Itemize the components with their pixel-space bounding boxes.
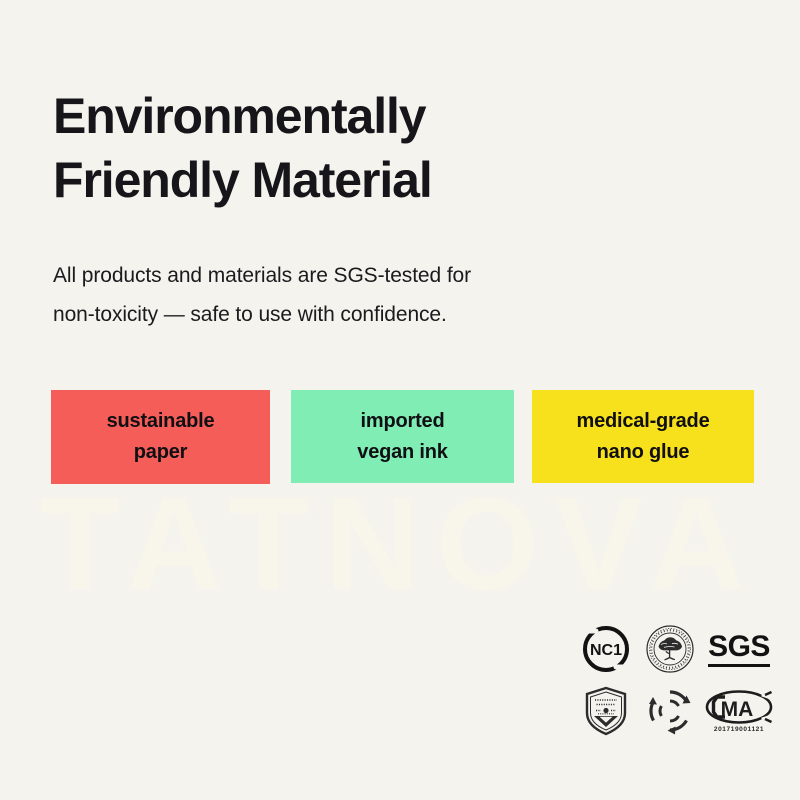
material-badge-line-2: vegan ink [357, 437, 447, 468]
page-subtitle-line-1: All products and materials are SGS-teste… [53, 257, 653, 296]
material-badge-label: imported vegan ink [357, 406, 447, 468]
page-title: Environmentally Friendly Material [53, 84, 673, 212]
page-title-line-2: Friendly Material [53, 148, 673, 212]
svg-text:NC1: NC1 [590, 642, 622, 659]
certification-logos: NC1 [575, 618, 775, 742]
page-subtitle: All products and materials are SGS-teste… [53, 257, 653, 335]
material-badge-sustainable-paper: sustainable paper [51, 390, 270, 484]
sgs-underline [708, 664, 770, 667]
sgs-certification-icon: SGS [703, 632, 775, 667]
material-badge-line-1: imported [357, 406, 447, 437]
certification-logo-row-2: MA 201719001121 [575, 680, 775, 742]
material-badge-line-2: nano glue [576, 437, 709, 468]
material-badge-line-1: sustainable [107, 406, 215, 437]
page-subtitle-line-2: non-toxicity — safe to use with confiden… [53, 296, 653, 335]
material-badge-label: sustainable paper [107, 406, 215, 468]
material-badge-line-2: paper [107, 437, 215, 468]
cma-certification-code: 201719001121 [714, 726, 764, 733]
svg-text:MA: MA [721, 698, 754, 721]
material-badge-medical-grade-nano-glue: medical-grade nano glue [532, 390, 754, 483]
shield-certification-icon [575, 686, 637, 736]
nc1-certification-icon: NC1 [575, 625, 637, 673]
certification-logo-row-1: NC1 [575, 618, 775, 680]
recycling-certification-icon [637, 686, 703, 736]
forestry-seal-icon [637, 624, 703, 674]
cma-certification-icon: MA 201719001121 [703, 689, 775, 733]
sgs-label: SGS [708, 632, 770, 662]
brand-watermark: TATNOVA [0, 478, 800, 610]
material-badge-line-1: medical-grade [576, 406, 709, 437]
material-badge-imported-vegan-ink: imported vegan ink [291, 390, 514, 483]
poster-canvas: TATNOVA Environmentally Friendly Materia… [0, 0, 800, 800]
page-title-line-1: Environmentally [53, 84, 673, 148]
material-badge-label: medical-grade nano glue [576, 406, 709, 468]
